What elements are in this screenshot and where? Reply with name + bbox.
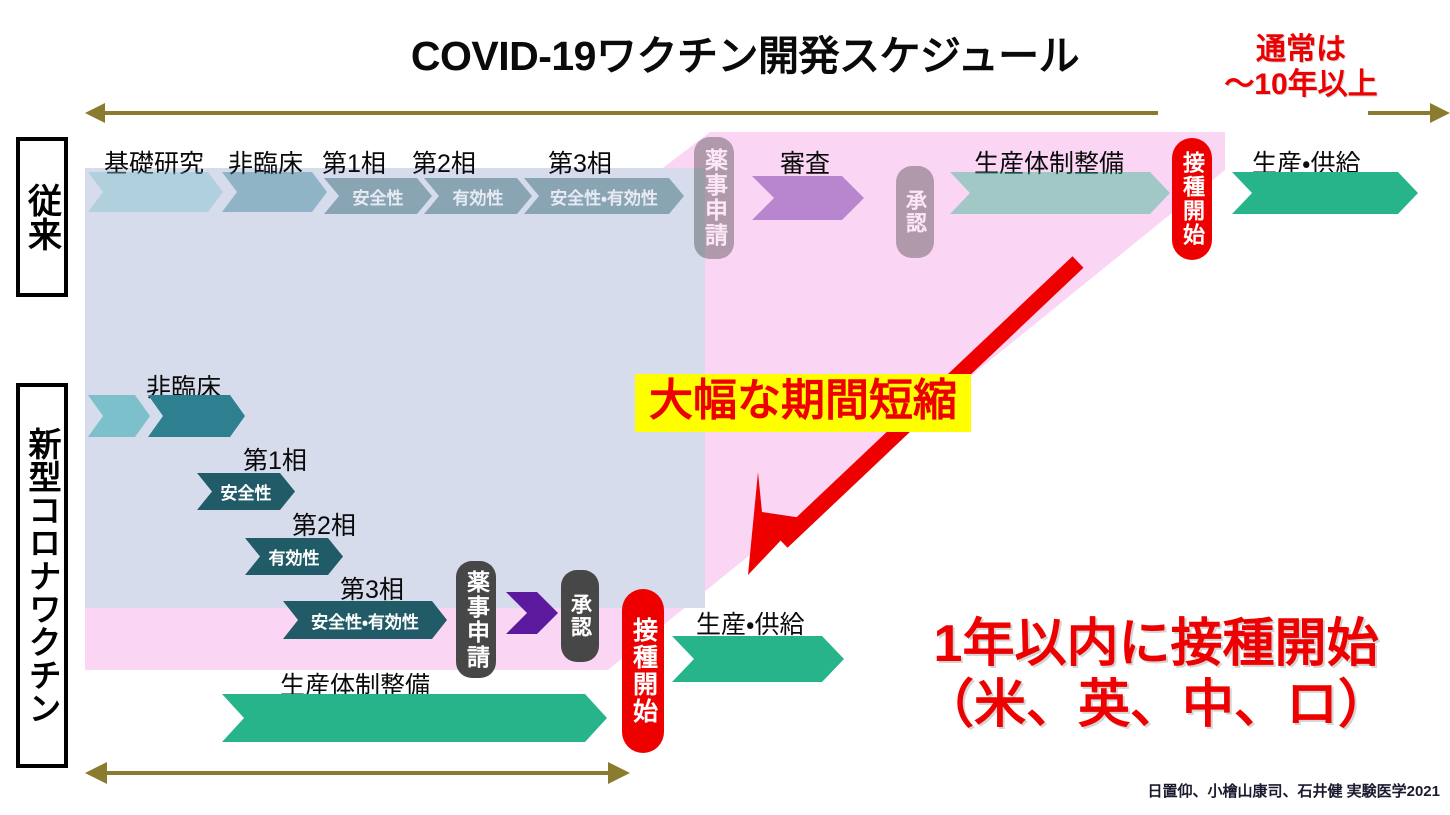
stage-production-supply-bottom	[672, 636, 844, 682]
stage-phase1-bottom: 安全性	[197, 473, 295, 510]
citation: 日置仰、小檜山康司、石井健 実験医学2021	[1040, 780, 1440, 801]
stage-phase3-bottom: 安全性・有効性	[283, 601, 447, 639]
callout-time-reduction: 大幅な期間短縮	[635, 374, 971, 432]
row-label-conventional: 従来	[16, 137, 68, 297]
stage-production-supply-top	[1232, 172, 1418, 214]
stage-basic-research-bottom	[88, 395, 150, 437]
covid-timeline-axis	[85, 758, 630, 788]
callout-conclusion-line1: 1年以内に接種開始	[866, 614, 1446, 675]
usual-duration-note: 通常は ～10年以上	[1196, 32, 1406, 103]
stage-phase1-bottom-sublabel: 安全性	[221, 479, 272, 504]
caption-review-top: 審査	[780, 144, 830, 180]
caption-phase2-bottom: 第2相	[292, 506, 356, 542]
stage-phase3-top: 安全性・有効性	[524, 178, 684, 214]
stage-phase2-top: 有効性	[424, 178, 532, 214]
slide-canvas: COVID-19ワクチン開発スケジュール 通常は ～10年以上 従来 新型コロナ…	[0, 0, 1450, 815]
stage-vaccination-start-top: 接種開始	[1172, 138, 1212, 260]
stage-basic-research-top	[88, 172, 223, 212]
stage-phase3-top-sublabel: 安全性・有効性	[550, 184, 658, 209]
conventional-timeline-axis	[85, 96, 1450, 130]
stage-phase3-bottom-sublabel: 安全性・有効性	[311, 608, 419, 633]
stage-production-setup-top	[950, 172, 1170, 214]
stage-phase2-bottom: 有効性	[245, 538, 343, 575]
stage-phase1-top-sublabel: 安全性	[353, 184, 404, 209]
caption-phase1-bottom: 第1相	[243, 441, 307, 477]
stage-phase2-top-sublabel: 有効性	[453, 184, 504, 209]
callout-conclusion-line2: （米、英、中、ロ）	[866, 675, 1446, 736]
stage-review-bottom	[506, 592, 558, 634]
stage-approval-top: 承認	[896, 166, 934, 258]
usual-duration-line1: 通常は	[1196, 32, 1406, 67]
callout-conclusion: 1年以内に接種開始 （米、英、中、ロ）	[866, 614, 1446, 737]
caption-phase2-top: 第2相	[412, 144, 476, 180]
stage-preclinical-top	[222, 172, 327, 212]
stage-phase2-bottom-sublabel: 有効性	[269, 544, 320, 569]
stage-regulatory-application-bottom: 薬事申請	[456, 561, 496, 678]
stage-vaccination-start-bottom: 接種開始	[622, 589, 664, 753]
stage-regulatory-application-top: 薬事申請	[694, 137, 734, 259]
caption-phase1-top: 第1相	[322, 144, 386, 180]
stage-phase1-top: 安全性	[324, 178, 432, 214]
stage-production-setup-bottom	[222, 694, 607, 742]
stage-preclinical-bottom	[148, 395, 245, 437]
caption-phase3-top: 第3相	[548, 144, 612, 180]
stage-approval-bottom: 承認	[561, 570, 599, 662]
stage-review-top	[752, 176, 864, 220]
row-label-covid-vaccine: 新型コロナワクチン	[16, 383, 68, 768]
